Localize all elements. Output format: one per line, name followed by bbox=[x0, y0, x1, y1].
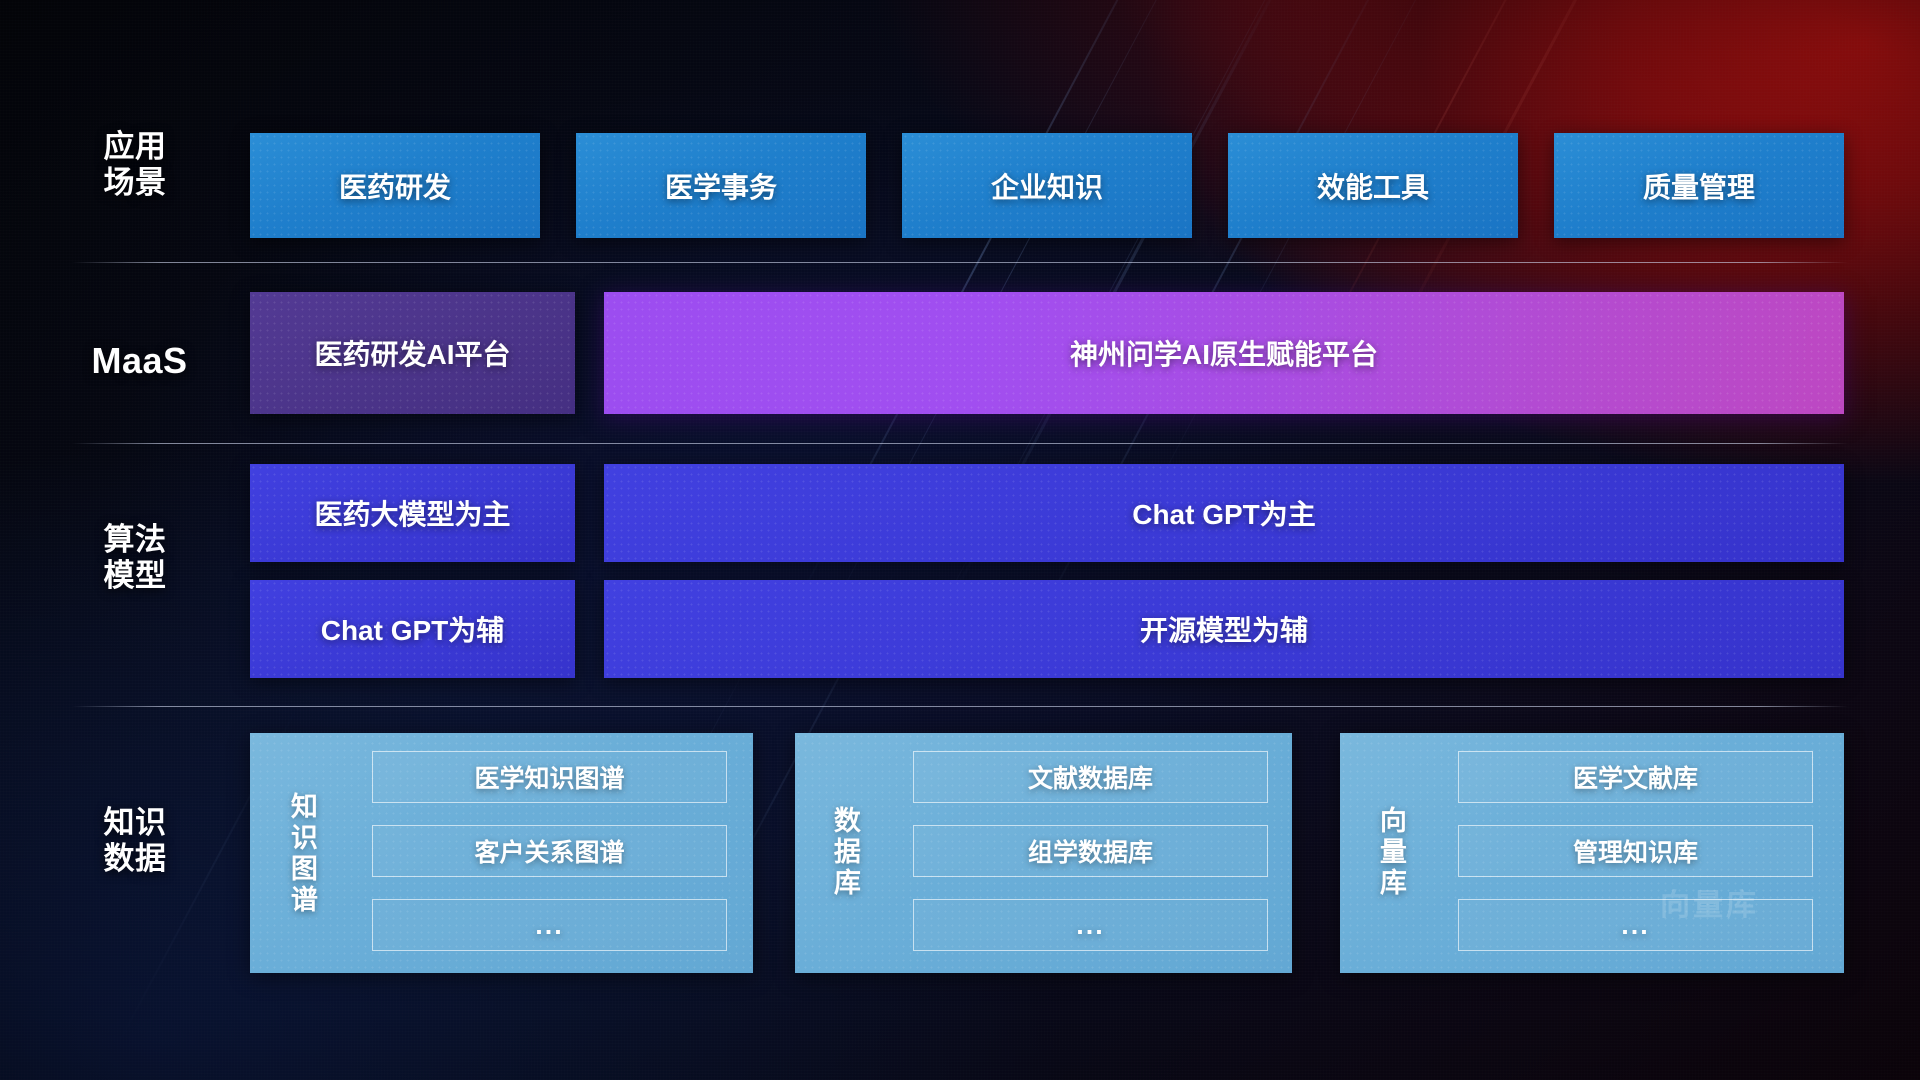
app-box-2[interactable]: 医学事务 bbox=[576, 133, 866, 238]
app-box-5[interactable]: 质量管理 bbox=[1554, 133, 1844, 238]
knowledge-panel-graph-side-label: 知识图谱 bbox=[279, 755, 323, 953]
app-box-4[interactable]: 效能工具 bbox=[1228, 133, 1518, 238]
algo-box-opensource-secondary[interactable]: 开源模型为辅 bbox=[604, 580, 1844, 678]
knowledge-item-vector-1-label: 医学文献库 bbox=[1573, 759, 1698, 795]
row-label-application-scenarios: 应用 场景 bbox=[75, 129, 195, 201]
app-box-4-label: 效能工具 bbox=[1317, 166, 1429, 206]
maas-box-shenzhou-platform-label: 神州问学AI原生赋能平台 bbox=[1070, 333, 1378, 373]
maas-box-medical-ai-platform-label: 医药研发AI平台 bbox=[314, 333, 510, 373]
knowledge-item-database-3[interactable]: ... bbox=[913, 899, 1268, 951]
row-label-knowledge-data: 知识 数据 bbox=[75, 805, 195, 877]
knowledge-panel-vector-side-label-text: 向量库 bbox=[1374, 806, 1406, 899]
algo-box-medical-model-primary[interactable]: 医药大模型为主 bbox=[250, 464, 575, 562]
algo-box-chatgpt-primary-label: Chat GPT为主 bbox=[1132, 493, 1316, 533]
maas-box-medical-ai-platform[interactable]: 医药研发AI平台 bbox=[250, 292, 575, 414]
knowledge-item-graph-2[interactable]: 客户关系图谱 bbox=[372, 825, 727, 877]
knowledge-item-database-1-label: 文献数据库 bbox=[1028, 759, 1153, 795]
knowledge-item-vector-1[interactable]: 医学文献库 bbox=[1458, 751, 1813, 803]
algo-box-chatgpt-secondary[interactable]: Chat GPT为辅 bbox=[250, 580, 575, 678]
algo-box-opensource-secondary-label: 开源模型为辅 bbox=[1140, 609, 1308, 649]
knowledge-item-vector-3-label: ... bbox=[1621, 910, 1650, 941]
knowledge-panel-vector-side-label: 向量库 bbox=[1368, 770, 1412, 935]
app-box-5-label: 质量管理 bbox=[1643, 166, 1755, 206]
divider-2 bbox=[72, 443, 1848, 444]
knowledge-item-database-2[interactable]: 组学数据库 bbox=[913, 825, 1268, 877]
knowledge-panel-database-side-label: 数据库 bbox=[822, 770, 866, 935]
knowledge-item-vector-2-label: 管理知识库 bbox=[1573, 833, 1698, 869]
knowledge-item-database-1[interactable]: 文献数据库 bbox=[913, 751, 1268, 803]
knowledge-item-graph-1-label: 医学知识图谱 bbox=[474, 759, 624, 795]
algo-box-chatgpt-primary[interactable]: Chat GPT为主 bbox=[604, 464, 1844, 562]
knowledge-item-graph-3-label: ... bbox=[535, 910, 564, 941]
knowledge-item-graph-3[interactable]: ... bbox=[372, 899, 727, 951]
knowledge-item-database-2-label: 组学数据库 bbox=[1028, 833, 1153, 869]
knowledge-item-database-3-label: ... bbox=[1076, 910, 1105, 941]
knowledge-item-vector-2[interactable]: 管理知识库 bbox=[1458, 825, 1813, 877]
maas-box-shenzhou-platform[interactable]: 神州问学AI原生赋能平台 bbox=[604, 292, 1844, 414]
app-box-1[interactable]: 医药研发 bbox=[250, 133, 540, 238]
app-box-3-label: 企业知识 bbox=[991, 166, 1103, 206]
row-label-maas: MaaS bbox=[72, 340, 207, 382]
knowledge-item-vector-3[interactable]: ... bbox=[1458, 899, 1813, 951]
knowledge-panel-graph-side-label-text: 知识图谱 bbox=[285, 792, 317, 916]
knowledge-item-graph-2-label: 客户关系图谱 bbox=[474, 833, 624, 869]
app-box-1-label: 医药研发 bbox=[339, 166, 451, 206]
algo-box-chatgpt-secondary-label: Chat GPT为辅 bbox=[321, 609, 505, 649]
app-box-3[interactable]: 企业知识 bbox=[902, 133, 1192, 238]
diagram-stage: 应用 场景 医药研发 医学事务 企业知识 效能工具 质量管理 MaaS 医药研发… bbox=[0, 0, 1920, 1080]
knowledge-panel-database-side-label-text: 数据库 bbox=[828, 806, 860, 899]
divider-1 bbox=[72, 262, 1848, 263]
app-box-2-label: 医学事务 bbox=[665, 166, 777, 206]
divider-3 bbox=[72, 706, 1848, 707]
algo-box-medical-model-primary-label: 医药大模型为主 bbox=[314, 493, 510, 533]
row-label-algorithm-model: 算法 模型 bbox=[75, 522, 195, 594]
knowledge-item-graph-1[interactable]: 医学知识图谱 bbox=[372, 751, 727, 803]
